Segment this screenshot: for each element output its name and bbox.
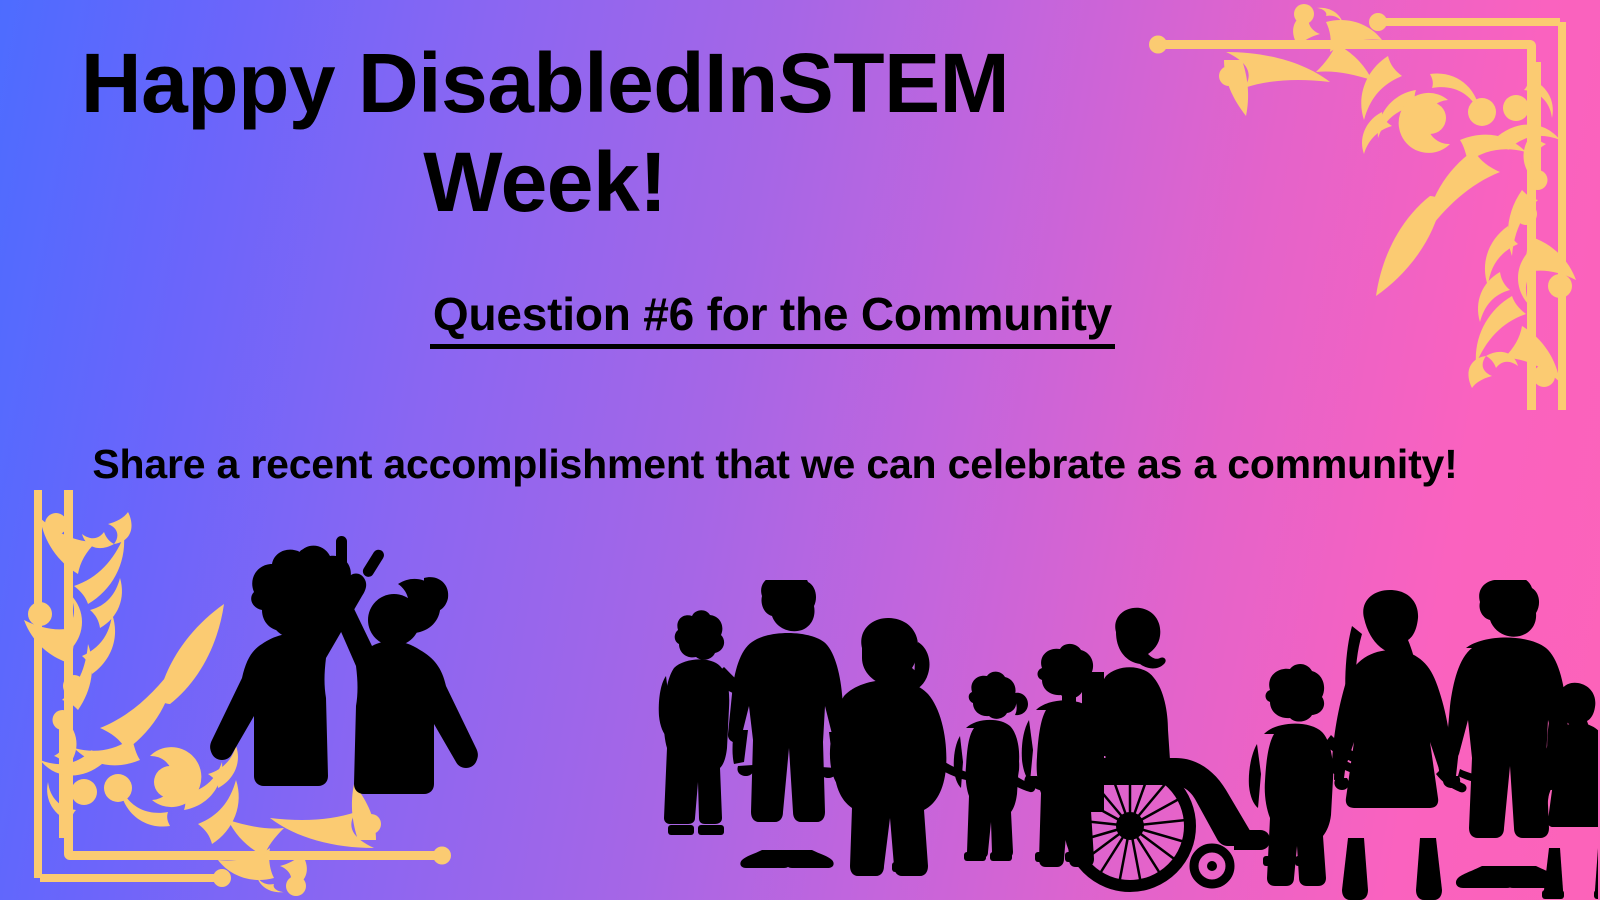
poster-canvas: Happy DisabledInSTEM Week! Question #6 f…	[0, 0, 1600, 900]
question-subheading-text: Question #6 for the Community	[430, 288, 1115, 349]
question-subheading: Question #6 for the Community	[0, 287, 1545, 341]
page-title: Happy DisabledInSTEM Week!	[0, 34, 1090, 232]
diverse-community-group-illustration	[646, 580, 1598, 900]
high-five-celebration-icon	[198, 528, 486, 808]
prompt-body-text: Share a recent accomplishment that we ca…	[80, 434, 1470, 496]
corner-flourish-top-right-icon	[1130, 0, 1600, 410]
